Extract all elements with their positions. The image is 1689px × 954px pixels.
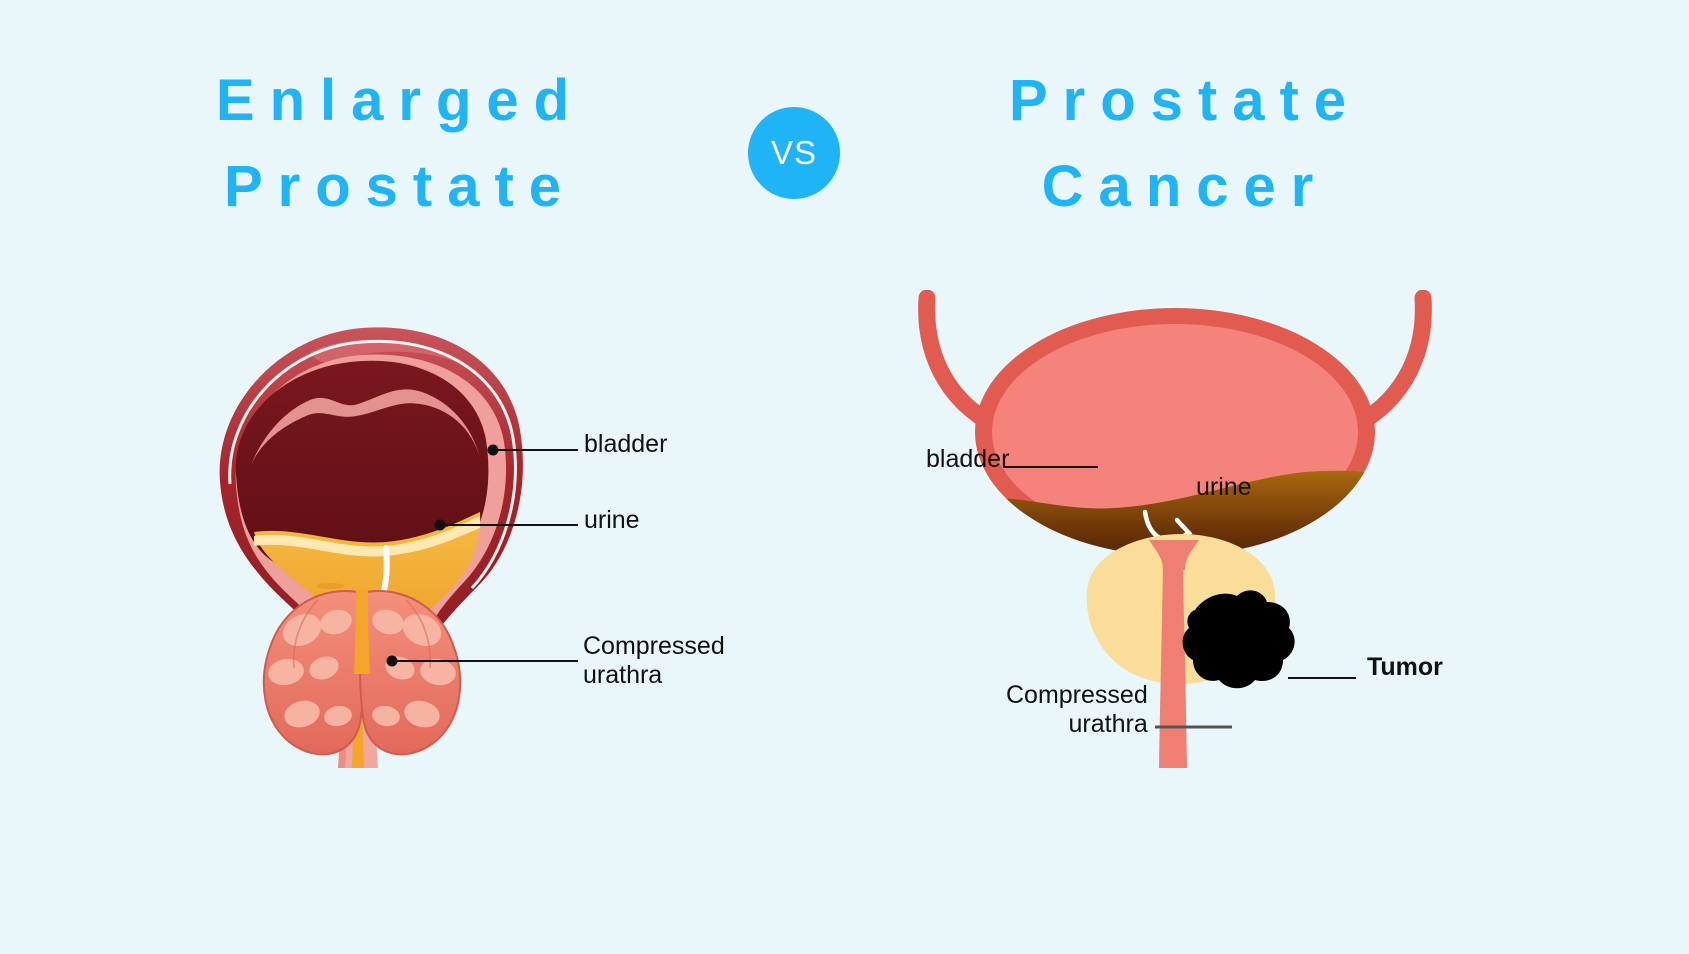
label-bladder-right: bladder xyxy=(926,445,1009,474)
label-urine-right: urine xyxy=(1196,473,1252,502)
label-urine-left: urine xyxy=(584,506,640,535)
diagram-canvas: Enlarged Prostate VS Prostate Cancer xyxy=(0,0,1689,954)
urethra-tube xyxy=(1159,552,1187,768)
left-prostatic-urethra xyxy=(354,590,370,674)
page-title-right: Prostate Cancer xyxy=(905,58,1465,230)
label-compressed-urethra-left: Compressed urathra xyxy=(583,632,725,691)
enlarged-prostate-illustration xyxy=(190,300,640,770)
prostate-cancer-illustration xyxy=(905,290,1465,770)
page-title-left: Enlarged Prostate xyxy=(120,58,680,230)
vs-badge: VS xyxy=(748,107,840,199)
tumor-mass xyxy=(1183,590,1295,688)
label-tumor-right: Tumor xyxy=(1367,653,1443,682)
label-bladder-left: bladder xyxy=(584,430,667,459)
label-compressed-urethra-right: Compressed urathra xyxy=(1006,681,1148,740)
